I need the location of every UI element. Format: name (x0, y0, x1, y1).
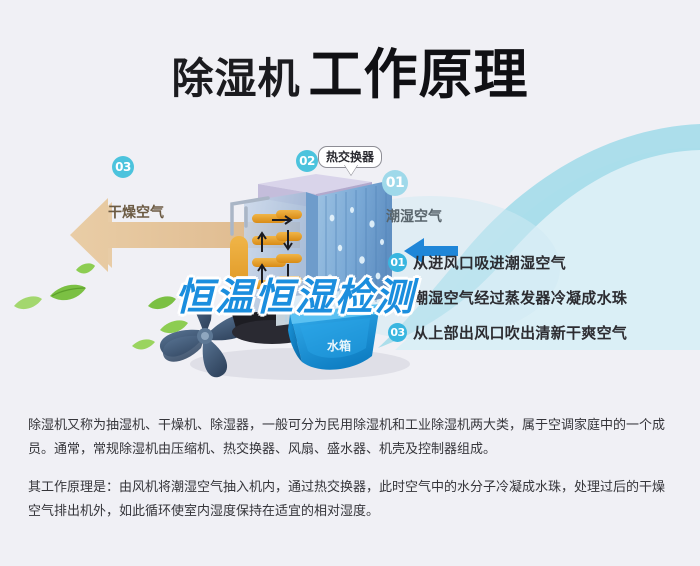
label-humid-air: 潮湿空气 (386, 206, 442, 226)
step-number-02: 02 (388, 288, 407, 307)
paragraph-1: 除湿机又称为抽湿机、干燥机、除湿器，一般可分为民用除湿机和工业除湿机两大类，属于… (28, 414, 676, 462)
step-number-01: 01 (388, 253, 407, 272)
callout-tail-icon (344, 164, 358, 175)
list-item: 03 从上部出风口吹出清新干爽空气 (388, 322, 688, 343)
diagram-badge-02: 02 (296, 150, 318, 172)
diagram-badge-03: 03 (112, 156, 134, 178)
page-title-part1: 除湿机 (171, 54, 300, 103)
diagram-badge-01: 01 (382, 170, 408, 196)
paragraph-2: 其工作原理是：由风机将潮湿空气抽入机内，通过热交换器，此时空气中的水分子冷凝成水… (28, 476, 676, 524)
list-item: 01 从进风口吸进潮湿空气 (388, 252, 688, 273)
list-item: 02 潮湿空气经过蒸发器冷凝成水珠 (388, 287, 688, 308)
step-text-03: 从上部出风口吹出清新干爽空气 (413, 322, 627, 343)
page-title: 除湿机工作原理 (0, 30, 700, 109)
step-number-03: 03 (388, 323, 407, 342)
body-copy: 除湿机又称为抽湿机、干燥机、除湿器，一般可分为民用除湿机和工业除湿机两大类，属于… (28, 414, 676, 524)
page-title-part2: 工作原理 (309, 43, 529, 106)
step-text-02: 潮湿空气经过蒸发器冷凝成水珠 (413, 287, 627, 308)
process-step-list: 01 从进风口吸进潮湿空气 02 潮湿空气经过蒸发器冷凝成水珠 03 从上部出风… (388, 252, 688, 357)
label-water-tank: 水箱 (327, 337, 351, 354)
label-dry-air: 干燥空气 (108, 202, 164, 222)
infographic-page: 除湿机工作原理 (0, 0, 700, 566)
step-text-01: 从进风口吸进潮湿空气 (413, 252, 566, 273)
